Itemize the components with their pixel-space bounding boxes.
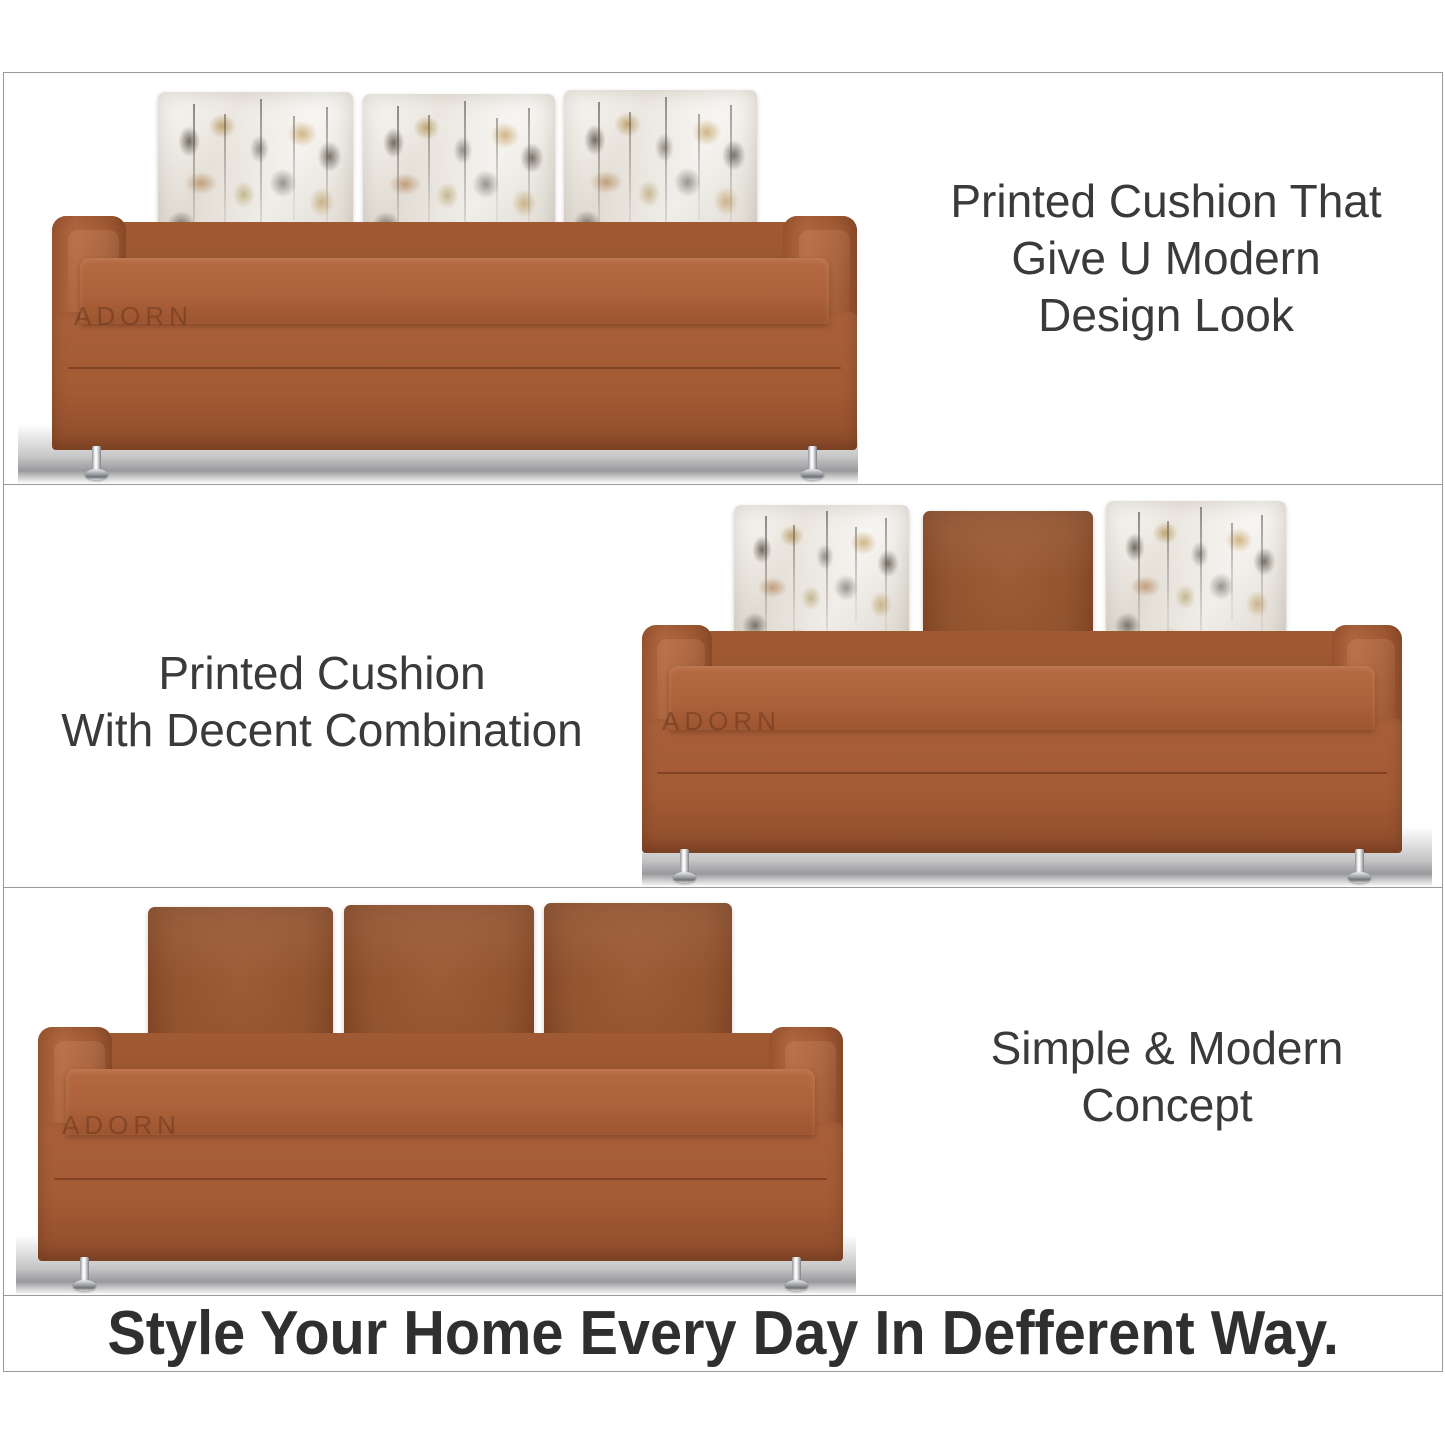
panel-2-caption: Printed Cushion With Decent Combination	[22, 645, 622, 759]
panel-simple-modern-concept: Simple & Modern Concept	[4, 887, 1442, 1295]
leg-foot	[1348, 872, 1371, 883]
sofa-body: ADORN	[642, 561, 1402, 853]
leg-foot	[73, 1280, 96, 1291]
sofa-seat-cushion	[669, 666, 1376, 730]
product-collage-image: Printed Cushion That Give U Modern Desig…	[0, 0, 1445, 1445]
panel-1-scene: ADORN	[18, 84, 858, 484]
panel-1-caption: Printed Cushion That Give U Modern Desig…	[916, 173, 1416, 344]
sofa-leg-front-left	[78, 1257, 91, 1291]
sofa-seat-cushion	[80, 258, 829, 324]
panel-printed-cushion-combination: Printed Cushion With Decent Combination	[4, 484, 1442, 887]
leg-foot	[801, 469, 824, 480]
sofa-leg-front-right	[790, 1257, 803, 1291]
tagline-banner: Style Your Home Every Day In Defferent W…	[4, 1295, 1442, 1371]
collage-frame: Printed Cushion That Give U Modern Desig…	[3, 72, 1443, 1372]
sofa-3-seater: ADORN	[52, 150, 857, 450]
sofa-body: ADORN	[38, 961, 843, 1261]
leg-foot	[673, 872, 696, 883]
sofa-body: ADORN	[52, 150, 857, 450]
sofa-leg-front-right	[1353, 849, 1366, 883]
panel-printed-cushion-modern: Printed Cushion That Give U Modern Desig…	[4, 73, 1442, 484]
panel-3-scene: ADORN	[16, 895, 856, 1295]
tagline-text: Style Your Home Every Day In Defferent W…	[107, 1303, 1339, 1365]
sofa-3-seater: ADORN	[38, 961, 843, 1261]
sofa-base	[52, 312, 857, 450]
sofa-leg-front-left	[678, 849, 691, 883]
sofa-3-seater: ADORN	[642, 561, 1402, 853]
sofa-seat-cushion	[66, 1069, 815, 1135]
sofa-leg-front-left	[90, 446, 103, 480]
leg-foot	[85, 469, 108, 480]
leg-foot	[785, 1280, 808, 1291]
sofa-leg-front-right	[806, 446, 819, 480]
panel-3-caption: Simple & Modern Concept	[932, 1020, 1402, 1134]
sofa-base	[38, 1123, 843, 1261]
sofa-base	[642, 719, 1402, 853]
panel-2-scene: ADORN	[642, 495, 1432, 887]
